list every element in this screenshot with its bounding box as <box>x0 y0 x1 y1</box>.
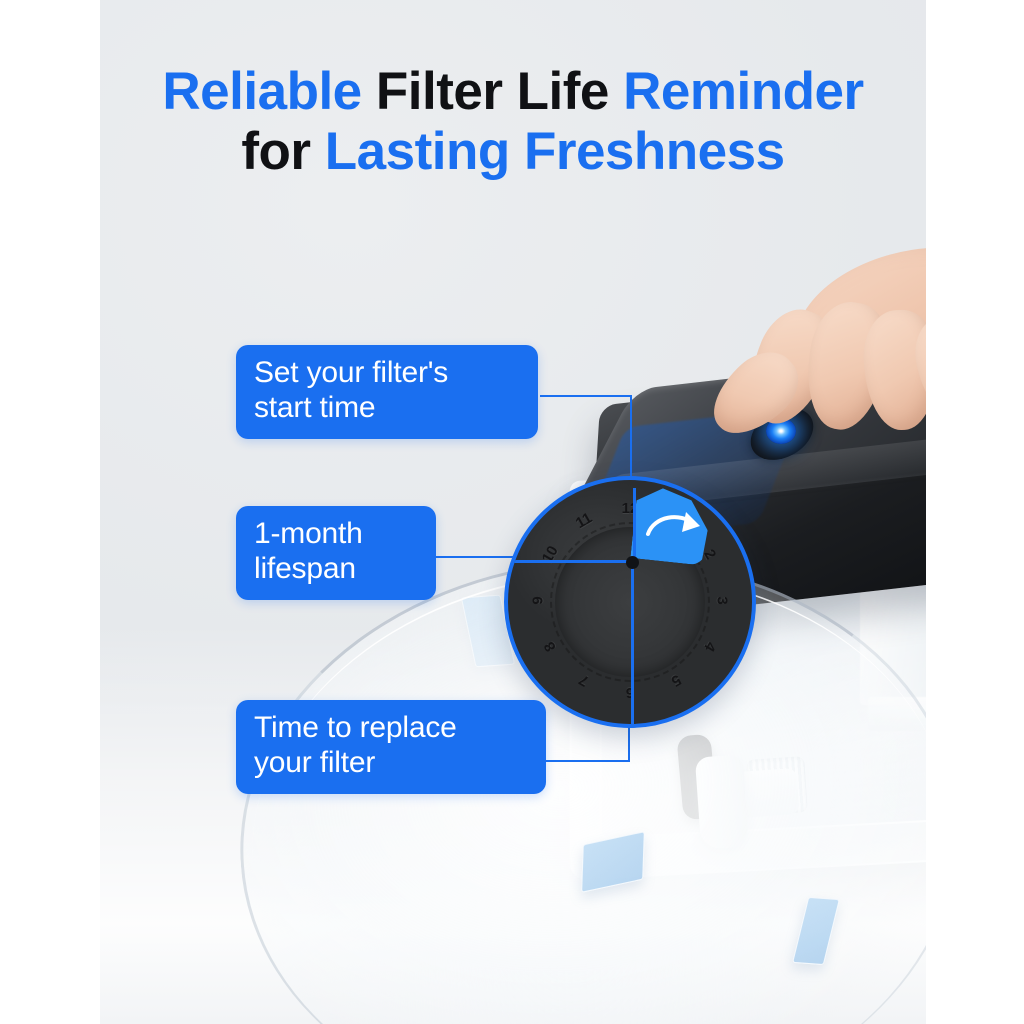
content-panel: Reliable Filter Life Reminder for Lastin… <box>100 0 926 1024</box>
callout-one-month-lifespan[interactable]: 1-month lifespan <box>236 506 436 600</box>
dial-set-mark-left <box>508 560 634 563</box>
filter-reminder-dial[interactable]: 123456789101112 <box>504 476 756 728</box>
callout-set-start-time[interactable]: Set your filter's start time <box>236 345 538 439</box>
dial-number-9: 9 <box>530 587 547 615</box>
infographic-canvas: Reliable Filter Life Reminder for Lastin… <box>0 0 1024 1024</box>
rotate-dial-arrow <box>644 508 706 548</box>
dial-number-3: 3 <box>714 587 731 615</box>
hand-pressing-button <box>712 250 926 480</box>
finger-ring <box>862 309 926 432</box>
dial-set-mark-up <box>633 488 636 560</box>
product-photo <box>100 0 926 1024</box>
dial-number-6: 6 <box>616 684 644 701</box>
connector-line-callout-1-horizontal <box>540 395 632 397</box>
dial-hub <box>626 556 639 569</box>
callout-time-to-replace[interactable]: Time to replace your filter <box>236 700 546 794</box>
dial-pointer <box>631 562 634 728</box>
